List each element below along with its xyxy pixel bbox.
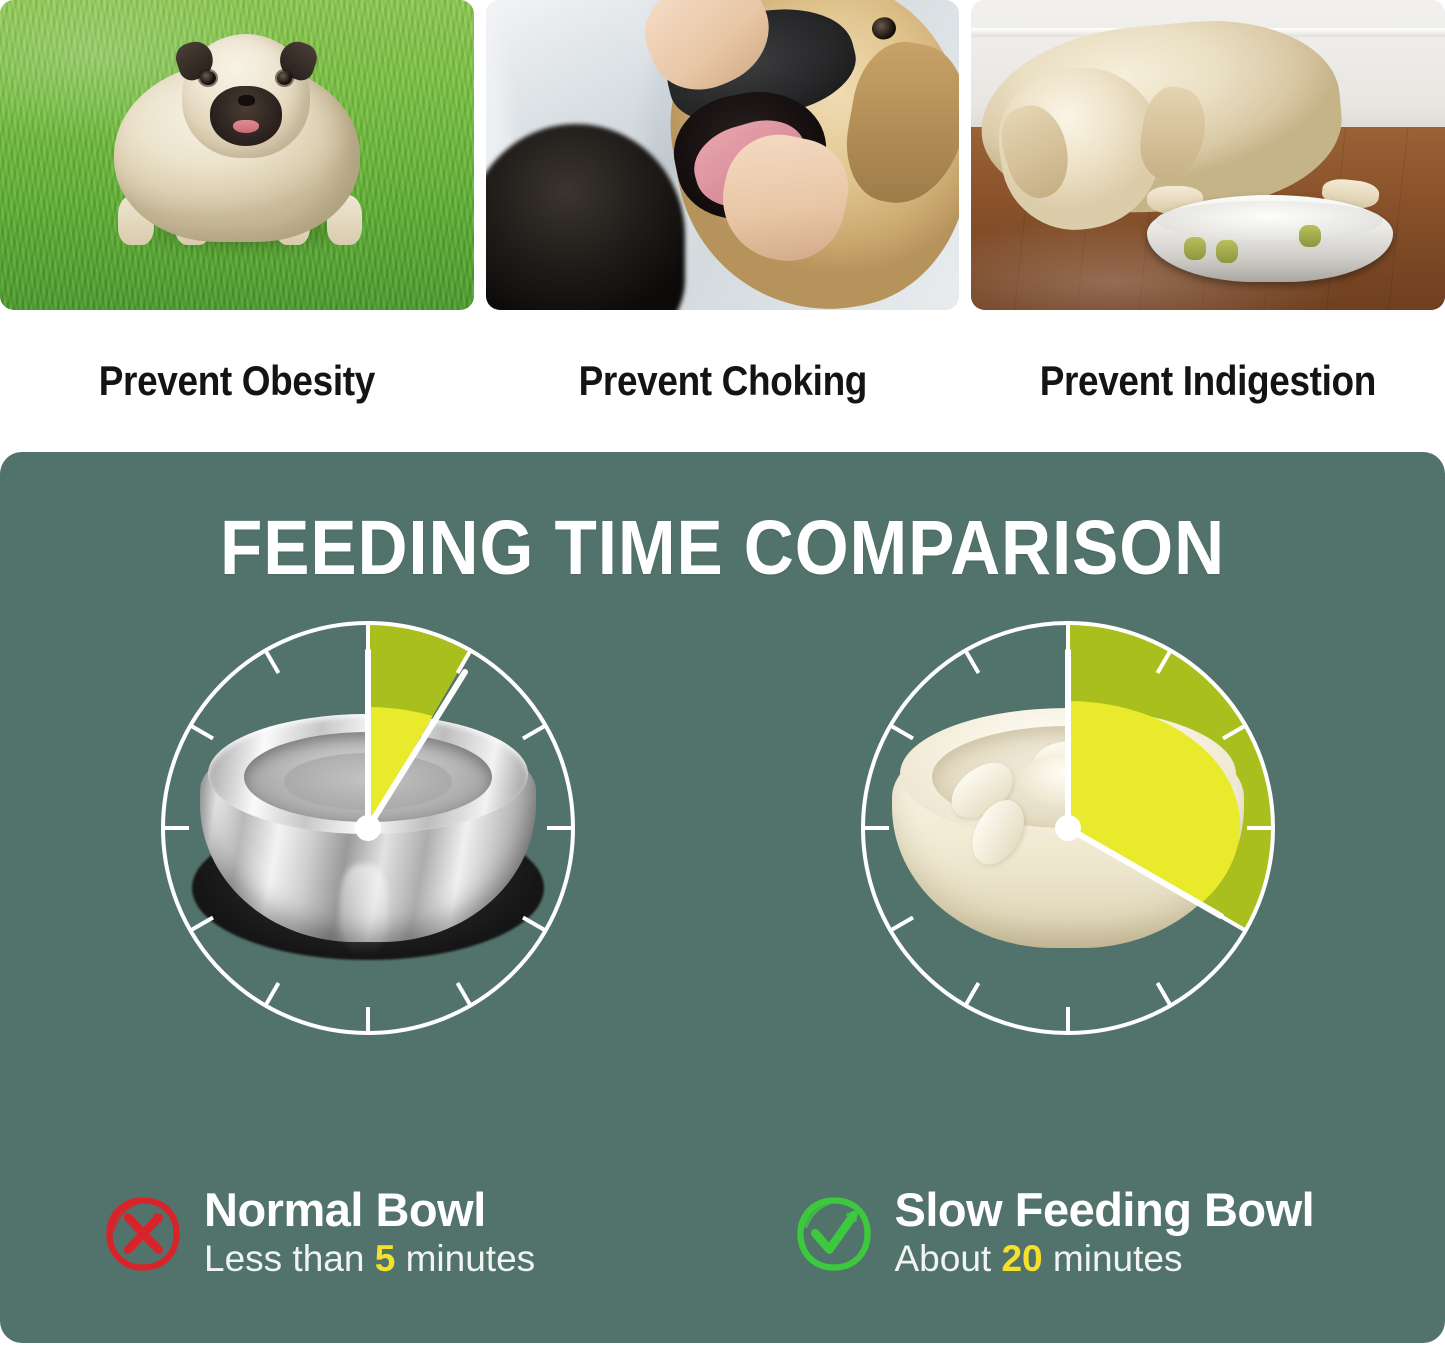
legend-slow-feeding-bowl: Slow Feeding Bowl About 20 minutes — [755, 1186, 1445, 1281]
kibble — [1184, 237, 1206, 260]
clock-dial-normal — [133, 593, 603, 1063]
legend-title-slow: Slow Feeding Bowl — [895, 1186, 1315, 1235]
legend-sub-value: 20 — [1001, 1238, 1042, 1279]
photo-card-indigestion — [971, 0, 1445, 310]
pug-tongue — [233, 120, 259, 133]
photo-card-choking — [486, 0, 960, 310]
legend-sub-value: 5 — [375, 1238, 396, 1279]
pug-eye — [200, 71, 215, 85]
legend-title-normal: Normal Bowl — [204, 1186, 535, 1235]
legend-text-slow: Slow Feeding Bowl About 20 minutes — [895, 1186, 1315, 1281]
legend-sub-prefix: Less than — [204, 1238, 375, 1279]
legend-subtitle-slow: About 20 minutes — [895, 1237, 1315, 1281]
kibble — [1216, 240, 1238, 263]
clock-hands — [1068, 651, 1221, 916]
clock-slow-feeding-bowl — [833, 593, 1303, 1063]
retriever-eye — [871, 15, 898, 41]
indigestion-photo — [971, 0, 1445, 310]
photo-strip — [0, 0, 1445, 310]
bowl-rim — [1156, 201, 1383, 241]
comparison-panel: FEEDING TIME COMPARISON — [0, 452, 1445, 1343]
cross-icon — [104, 1195, 182, 1273]
legend-row: Normal Bowl Less than 5 minutes Slow Fee… — [0, 1186, 1445, 1281]
choking-photo — [486, 0, 960, 310]
clock-center-dot — [1055, 815, 1081, 841]
pug-head — [182, 34, 310, 158]
legend-sub-prefix: About — [895, 1238, 1002, 1279]
clock-dial-slow — [833, 593, 1303, 1063]
caption-prevent-indigestion: Prevent Indigestion — [1000, 357, 1417, 405]
clock-normal-bowl — [133, 593, 603, 1063]
legend-text-normal: Normal Bowl Less than 5 minutes — [204, 1186, 535, 1281]
pug-eye — [277, 71, 292, 85]
pug-photo — [0, 0, 474, 310]
pug-muzzle — [210, 86, 282, 146]
photo-card-obesity — [0, 0, 474, 310]
legend-sub-suffix: minutes — [1043, 1238, 1183, 1279]
pug-nose — [238, 95, 255, 107]
kibble — [1299, 225, 1321, 248]
legend-subtitle-normal: Less than 5 minutes — [204, 1237, 535, 1281]
caption-prevent-choking: Prevent Choking — [514, 357, 931, 405]
clock-center-dot — [355, 815, 381, 841]
check-icon — [795, 1195, 873, 1273]
food-bowl-photo — [1147, 195, 1393, 282]
clock-hands — [368, 651, 465, 828]
clock-comparison-row — [0, 593, 1445, 1063]
photo-captions: Prevent Obesity Prevent Choking Prevent … — [0, 310, 1445, 452]
page-title: FEEDING TIME COMPARISON — [72, 452, 1373, 593]
legend-normal-bowl: Normal Bowl Less than 5 minutes — [0, 1186, 755, 1281]
legend-sub-suffix: minutes — [395, 1238, 535, 1279]
caption-prevent-obesity: Prevent Obesity — [28, 357, 445, 405]
